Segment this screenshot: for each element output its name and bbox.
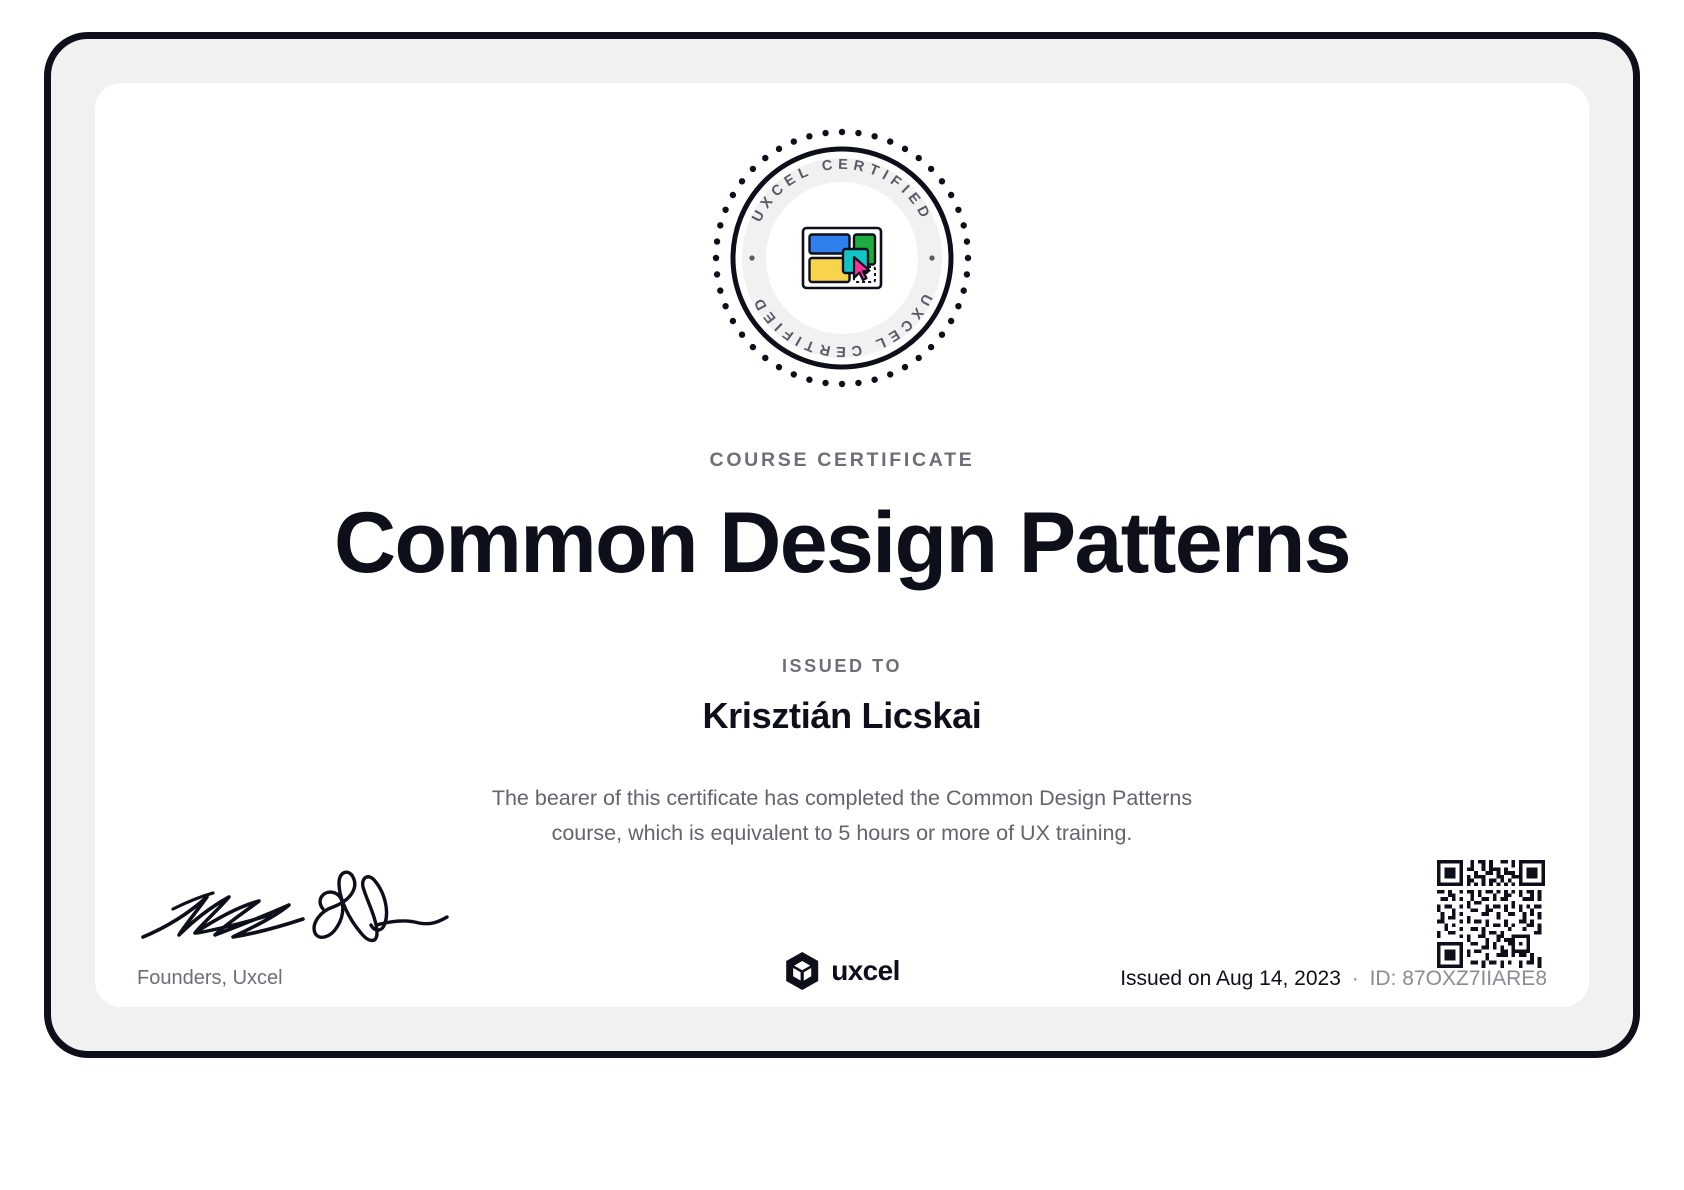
page-title: Common Design Patterns xyxy=(95,497,1589,590)
uxcel-brand-logo: uxcel xyxy=(784,951,900,991)
signature-block xyxy=(137,863,467,953)
issued-to-label: ISSUED TO xyxy=(95,656,1589,677)
description-line-1: The bearer of this certificate has compl… xyxy=(492,786,1192,810)
course-certificate-eyebrow: COURSE CERTIFICATE xyxy=(95,449,1589,472)
uxcel-wordmark: uxcel xyxy=(831,955,900,987)
certificate-frame: UXCEL CERTIFIED UXCEL CERTIFIED xyxy=(44,32,1640,1058)
founders-label: Founders, Uxcel xyxy=(137,967,283,990)
uxcel-cube-logo xyxy=(784,951,820,991)
recipient-name: Krisztián Licskai xyxy=(95,695,1589,737)
verification-qr-code[interactable] xyxy=(1437,860,1545,968)
description-line-2: course, which is equivalent to 5 hours o… xyxy=(552,821,1133,845)
issue-date: Issued on Aug 14, 2023 xyxy=(1120,967,1341,990)
certificate-id: ID: 87OXZ7IIARE8 xyxy=(1370,967,1547,990)
design-patterns-layout-icon xyxy=(803,228,881,288)
founder-signature-right xyxy=(314,872,447,940)
founder-signature-left xyxy=(143,893,303,937)
issue-info: Issued on Aug 14, 2023 · ID: 87OXZ7IIARE… xyxy=(1120,967,1547,991)
uxcel-certified-badge: UXCEL CERTIFIED UXCEL CERTIFIED xyxy=(711,127,973,389)
certificate-description: The bearer of this certificate has compl… xyxy=(462,781,1222,851)
issue-separator: · xyxy=(1347,967,1364,990)
certificate-body: UXCEL CERTIFIED UXCEL CERTIFIED xyxy=(95,83,1589,1007)
